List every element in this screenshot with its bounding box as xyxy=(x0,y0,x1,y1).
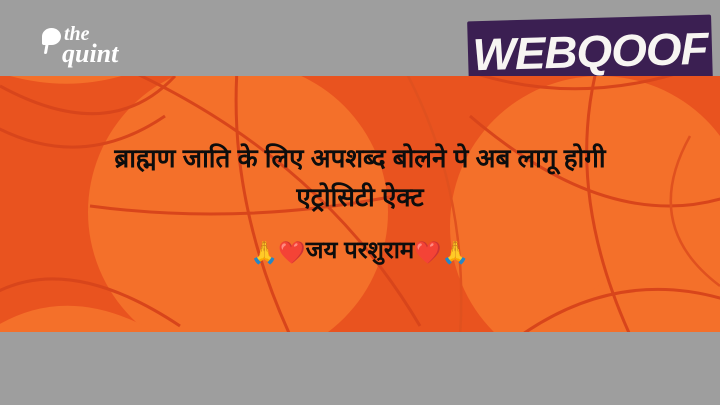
heart-icon-left: ❤️ xyxy=(278,241,305,266)
letterbox-bottom-bar xyxy=(0,332,720,405)
speech-bubble-icon xyxy=(42,28,61,45)
meme-line-3: 🙏❤️जय परशुराम❤️🙏 xyxy=(251,231,469,273)
screenshot-root: the quint WEBQOOF xyxy=(0,0,720,405)
the-quint-logo[interactable]: the quint xyxy=(40,24,170,70)
logo-word-quint: quint xyxy=(62,40,118,68)
meme-text-block: ब्राह्मण जाति के लिए अपशब्द बोलने पे अब … xyxy=(0,76,720,332)
meme-line-3-text: जय परशुराम xyxy=(306,237,415,264)
folded-hands-icon-left: 🙏 xyxy=(251,241,278,266)
meme-line-2: एट्रोसिटी ऐक्ट xyxy=(296,178,423,217)
heart-icon-right: ❤️ xyxy=(414,241,441,266)
folded-hands-icon-right: 🙏 xyxy=(442,241,469,266)
meme-card: ब्राह्मण जाति के लिए अपशब्द बोलने पे अब … xyxy=(0,76,720,332)
meme-line-1: ब्राह्मण जाति के लिए अपशब्द बोलने पे अब … xyxy=(114,139,605,178)
